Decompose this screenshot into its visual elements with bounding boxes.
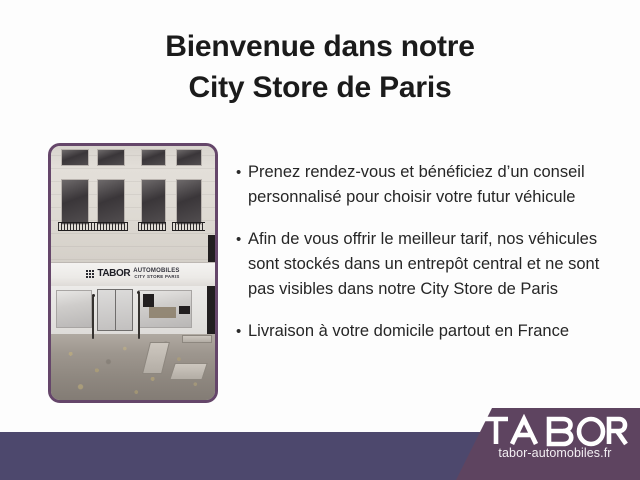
list-item-text: Afin de vous offrir le meilleur tarif, n… [248,227,626,302]
facade-window [176,179,202,225]
shop-interior-screen [143,294,154,307]
facade-window [176,149,202,167]
list-item-text: Livraison à votre domicile partout en Fr… [248,319,626,344]
street-bollard [138,293,140,339]
title-line-2: City Store de Paris [0,67,640,108]
facade-window [97,179,125,225]
page-title: Bienvenue dans notre City Store de Paris [0,26,640,109]
tabor-dots-icon [86,270,94,278]
facade-window [61,149,89,167]
bullet-list: • Prenez rendez-vous et bénéficiez d’un … [234,160,626,344]
facade-window [97,149,125,167]
bullet-marker-icon: • [234,227,248,252]
bullet-marker-icon: • [234,160,248,185]
tabor-logo-url: tabor-automobiles.fr [480,447,630,461]
shop-door [97,289,133,331]
curb-stone [170,363,208,380]
list-item-text: Prenez rendez-vous et bénéficiez d’un co… [248,160,626,210]
storefront-photo: TABOR AUTOMOBILES CITY STORE PARIS [51,146,215,400]
shop-window [56,290,92,329]
balcony-railing [138,222,166,230]
pavement [51,334,215,400]
shop-interior-desk [149,307,175,318]
curb-stone [182,335,212,343]
shop-front [51,286,215,334]
storefront-photo-frame: TABOR AUTOMOBILES CITY STORE PARIS [48,143,218,403]
tabor-logo: tabor-automobiles.fr [480,414,630,461]
balcony-railing [58,222,129,230]
street-bollard [92,296,94,339]
balcony-railing [172,222,205,230]
bullet-marker-icon: • [234,319,248,344]
shop-side-panel [207,286,215,334]
title-line-1: Bienvenue dans notre [0,26,640,67]
sign-brand-text: TABOR [97,269,130,279]
tabor-logotype-icon [481,414,629,448]
building-facade [51,146,215,273]
shop-interior-chair [179,306,190,314]
tabor-wordmark [480,414,630,448]
list-item: • Prenez rendez-vous et bénéficiez d’un … [234,160,626,210]
sign-location-text: CITY STORE PARIS [134,275,179,279]
slide: Bienvenue dans notre City Store de Paris [0,0,640,480]
facade-window [141,179,166,225]
facade-window [61,179,89,225]
list-item: • Afin de vous offrir le meilleur tarif,… [234,227,626,302]
list-item: • Livraison à votre domicile partout en … [234,319,626,344]
storefront-sign: TABOR AUTOMOBILES CITY STORE PARIS [51,262,215,288]
facade-window [141,149,166,167]
